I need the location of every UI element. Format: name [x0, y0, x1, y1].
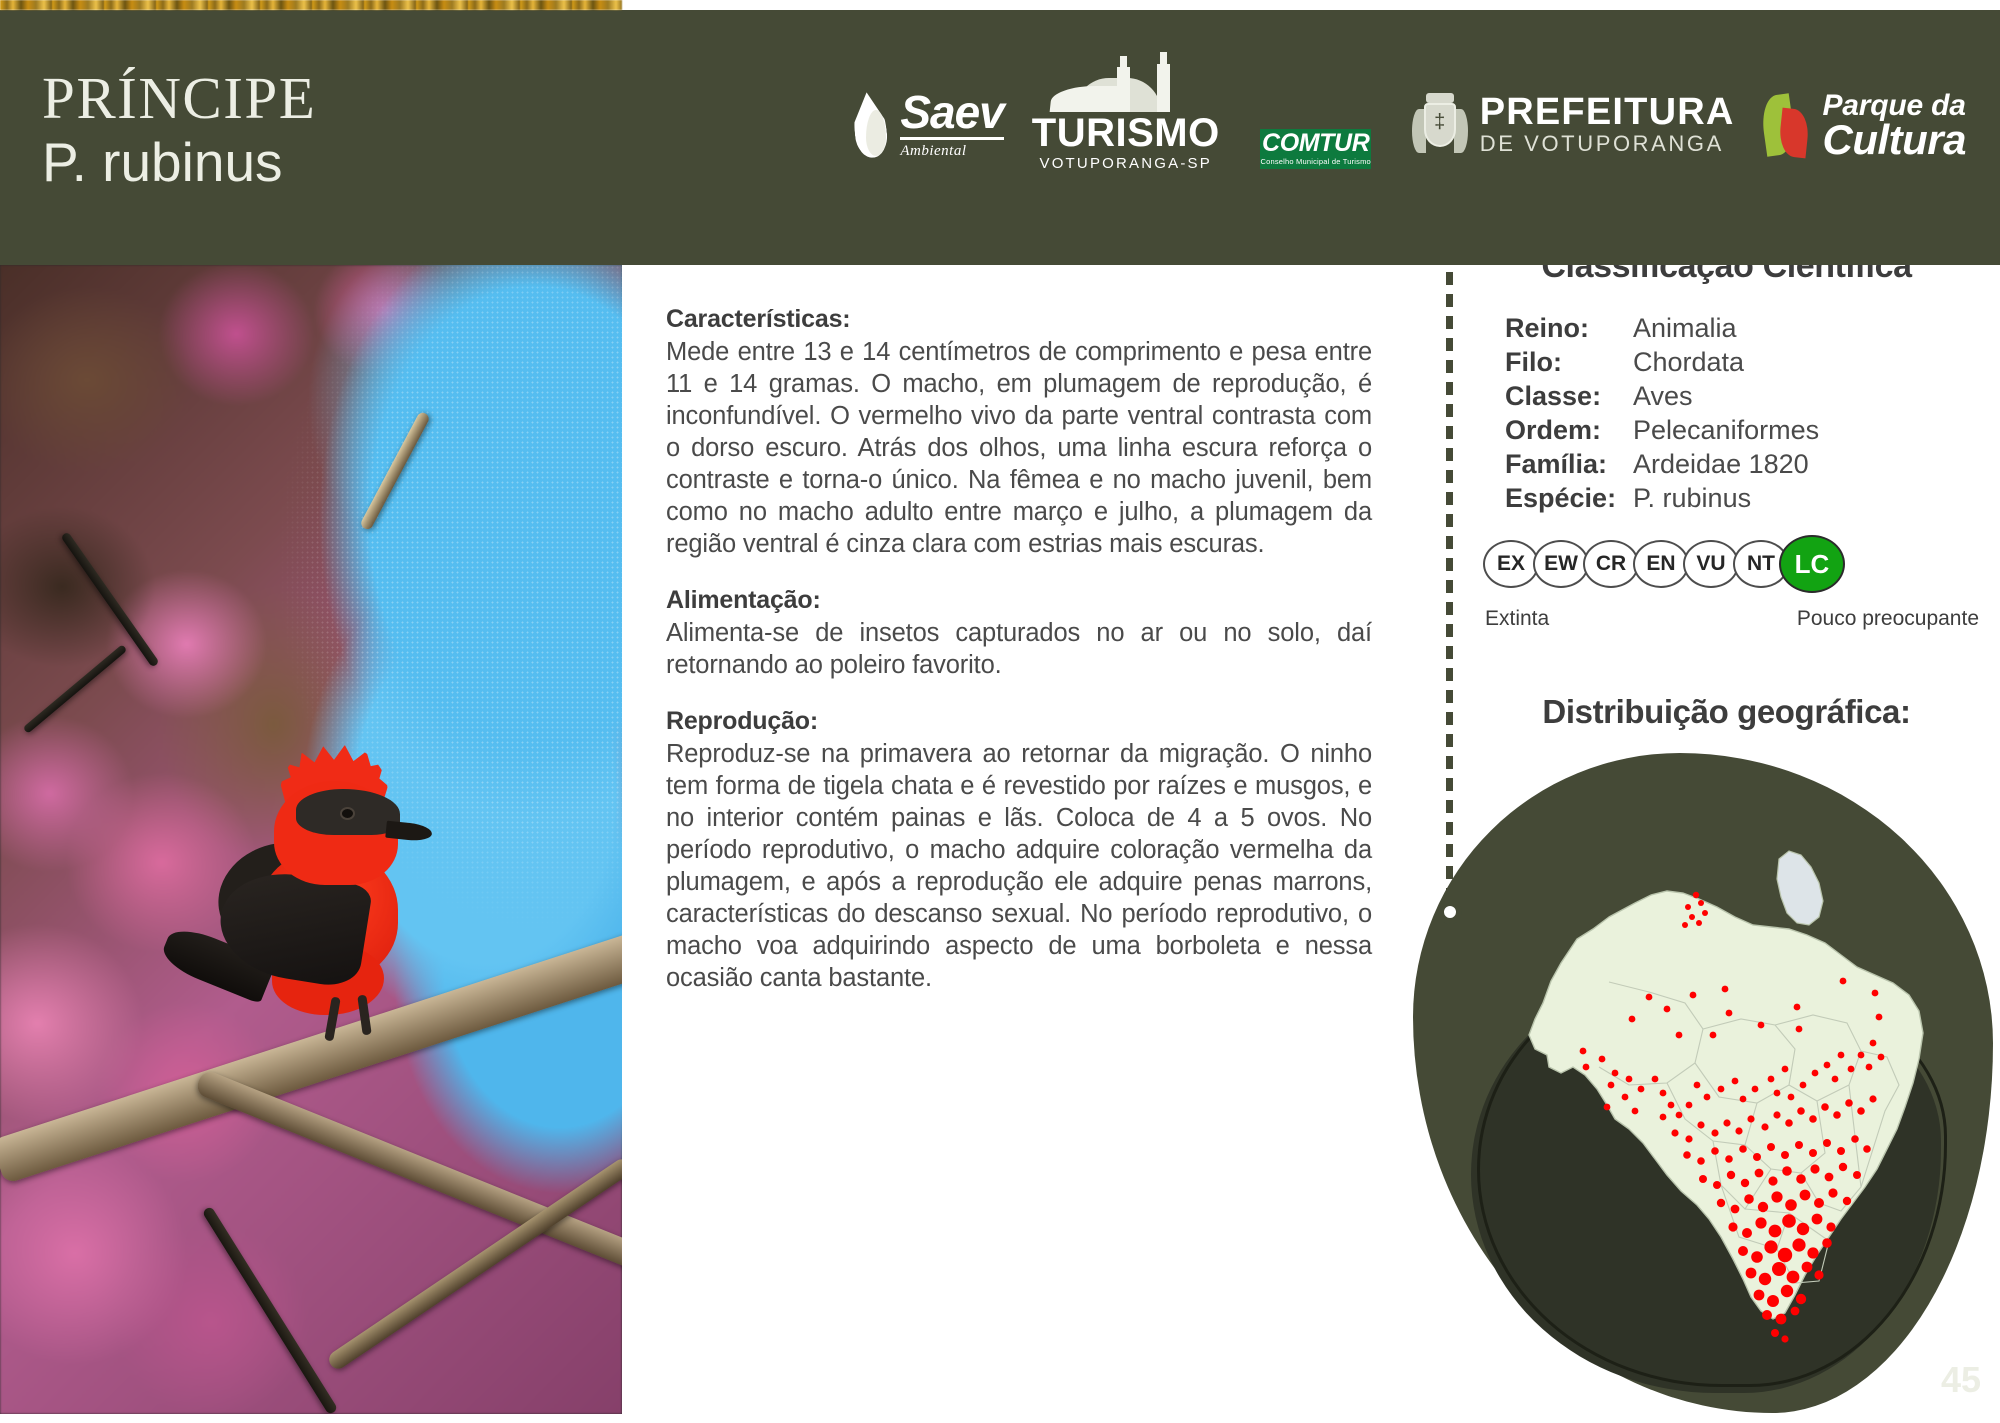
- section-body: Alimenta-se de insetos capturados no ar …: [666, 617, 1372, 681]
- iucn-status-scale: EX EW CR EN VU NT LC: [1483, 535, 1983, 593]
- conservation-label-right: Pouco preocupante: [1797, 607, 1979, 631]
- logo-parque-line2: Cultura: [1823, 119, 1967, 161]
- page-number: 45: [1941, 1359, 1981, 1401]
- taxonomy-key: Família:: [1505, 449, 1633, 480]
- logo-turismo-votuporanga: TURISMO VOTUPORANGA-SP: [1032, 78, 1220, 173]
- taxonomy-value: Animalia: [1633, 313, 1737, 344]
- taxonomy-row: Reino: Animalia: [1505, 313, 1819, 344]
- logo-saev-ambiental: Saev Ambiental: [848, 78, 1003, 173]
- coat-of-arms-icon: [1412, 91, 1468, 161]
- section-body: Mede entre 13 e 14 centímetros de compri…: [666, 336, 1372, 560]
- taxonomy-row: Ordem: Pelecaniformes: [1505, 415, 1819, 446]
- divider-end-circle-icon: [1438, 900, 1462, 924]
- vertical-dashed-divider: [1446, 272, 1453, 910]
- section-heading: Reprodução:: [666, 707, 1372, 736]
- leaf-flame-icon: [1763, 93, 1813, 159]
- section-caracteristicas: Características: Mede entre 13 e 14 cent…: [666, 305, 1372, 560]
- conservation-scale-labels: Extinta Pouco preocupante: [1483, 607, 1983, 631]
- water-drop-icon: [848, 90, 892, 162]
- section-heading: Alimentação:: [666, 586, 1372, 615]
- logo-prefeitura-name: PREFEITURA: [1480, 93, 1735, 131]
- taxonomy-key: Ordem:: [1505, 415, 1633, 446]
- logo-comtur: COMTUR Conselho Municipal de Turismo: [1248, 83, 1384, 169]
- taxonomy-key: Espécie:: [1505, 483, 1633, 514]
- status-badge-lc-active: LC: [1779, 535, 1845, 593]
- taxonomy-row: Espécie: P. rubinus: [1505, 483, 1819, 514]
- top-edge-photo-sliver: [0, 0, 622, 10]
- section-reproducao: Reprodução: Reproduz-se na primavera ao …: [666, 707, 1372, 994]
- top-edge-strip: [0, 0, 2000, 10]
- taxonomy-key: Reino:: [1505, 313, 1633, 344]
- logo-turismo-name: TURISMO: [1032, 113, 1220, 153]
- taxonomy-row: Classe: Aves: [1505, 381, 1819, 412]
- status-badge-en: EN: [1633, 540, 1689, 588]
- logo-turismo-subtitle: VOTUPORANGA-SP: [1039, 154, 1212, 174]
- section-heading: Características:: [666, 305, 1372, 334]
- logo-comtur-subtitle: Conselho Municipal de Turismo: [1260, 157, 1370, 166]
- brazil-svg: [1489, 767, 1959, 1367]
- page-header: PRÍNCIPE P. rubinus Saev Ambiental TURIS…: [0, 10, 2000, 265]
- species-photo: [0, 265, 622, 1414]
- conservation-status: EX EW CR EN VU NT LC Extinta Pouco preoc…: [1483, 535, 1983, 631]
- logo-saev-name: Saev: [900, 91, 1003, 140]
- partner-logo-row: Saev Ambiental TURISMO VOTUPORANGA-SP CO…: [848, 78, 1966, 173]
- conservation-label-left: Extinta: [1485, 607, 1549, 631]
- taxonomy-value: Ardeidae 1820: [1633, 449, 1809, 480]
- logo-parque-da-cultura: Parque da Cultura: [1763, 78, 1967, 173]
- taxonomy-row: Família: Ardeidae 1820: [1505, 449, 1819, 480]
- status-badge-vu: VU: [1683, 540, 1739, 588]
- taxonomy-value: Pelecaniformes: [1633, 415, 1819, 446]
- taxonomy-value: Chordata: [1633, 347, 1744, 378]
- logo-saev-subtitle: Ambiental: [900, 143, 1003, 160]
- vermilion-flycatcher-bird: [200, 745, 500, 1055]
- distribution-map: 45: [1393, 743, 2000, 1423]
- section-alimentacao: Alimentação: Alimenta-se de insetos capt…: [666, 586, 1372, 681]
- status-badge-cr: CR: [1583, 540, 1639, 588]
- brazil-landmass: [1529, 851, 1923, 1319]
- title-block: PRÍNCIPE P. rubinus: [42, 68, 316, 193]
- page-title: PRÍNCIPE: [42, 68, 316, 128]
- logo-prefeitura-votuporanga: PREFEITURA DE VOTUPORANGA: [1412, 78, 1735, 173]
- distribution-title: Distribuição geográfica:: [1453, 693, 2000, 731]
- taxonomy-row: Filo: Chordata: [1505, 347, 1819, 378]
- logo-comtur-name: COMTUR: [1262, 131, 1369, 156]
- classification-column: Classificação Científica Reino: Animalia…: [1453, 265, 2000, 1414]
- taxonomy-value: Aves: [1633, 381, 1693, 412]
- status-badge-ew: EW: [1533, 540, 1589, 588]
- taxonomy-table: Reino: Animalia Filo: Chordata Classe: A…: [1505, 313, 1819, 517]
- taxonomy-value: P. rubinus: [1633, 483, 1751, 514]
- turismo-landmark-icon: [1051, 78, 1201, 112]
- brazil-map-shape: [1489, 767, 1959, 1367]
- status-badge-ex: EX: [1483, 540, 1539, 588]
- section-body: Reproduz-se na primavera ao retornar da …: [666, 738, 1372, 994]
- taxonomy-key: Filo:: [1505, 347, 1633, 378]
- page-subtitle-scientific-name: P. rubinus: [42, 132, 316, 193]
- description-column: Características: Mede entre 13 e 14 cent…: [622, 265, 1412, 1414]
- taxonomy-key: Classe:: [1505, 381, 1633, 412]
- logo-prefeitura-subtitle: DE VOTUPORANGA: [1480, 131, 1735, 157]
